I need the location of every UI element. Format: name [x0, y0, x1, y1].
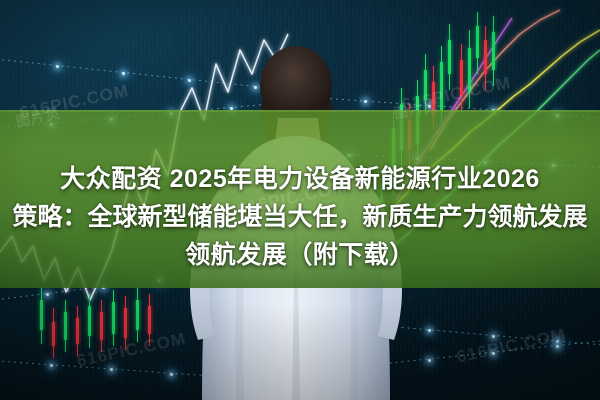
- vignette-overlay: [0, 0, 600, 400]
- banner-image: 大众配资 2025年电力设备新能源行业2026 策略：全球新型储能堪当大任，新质…: [0, 0, 600, 400]
